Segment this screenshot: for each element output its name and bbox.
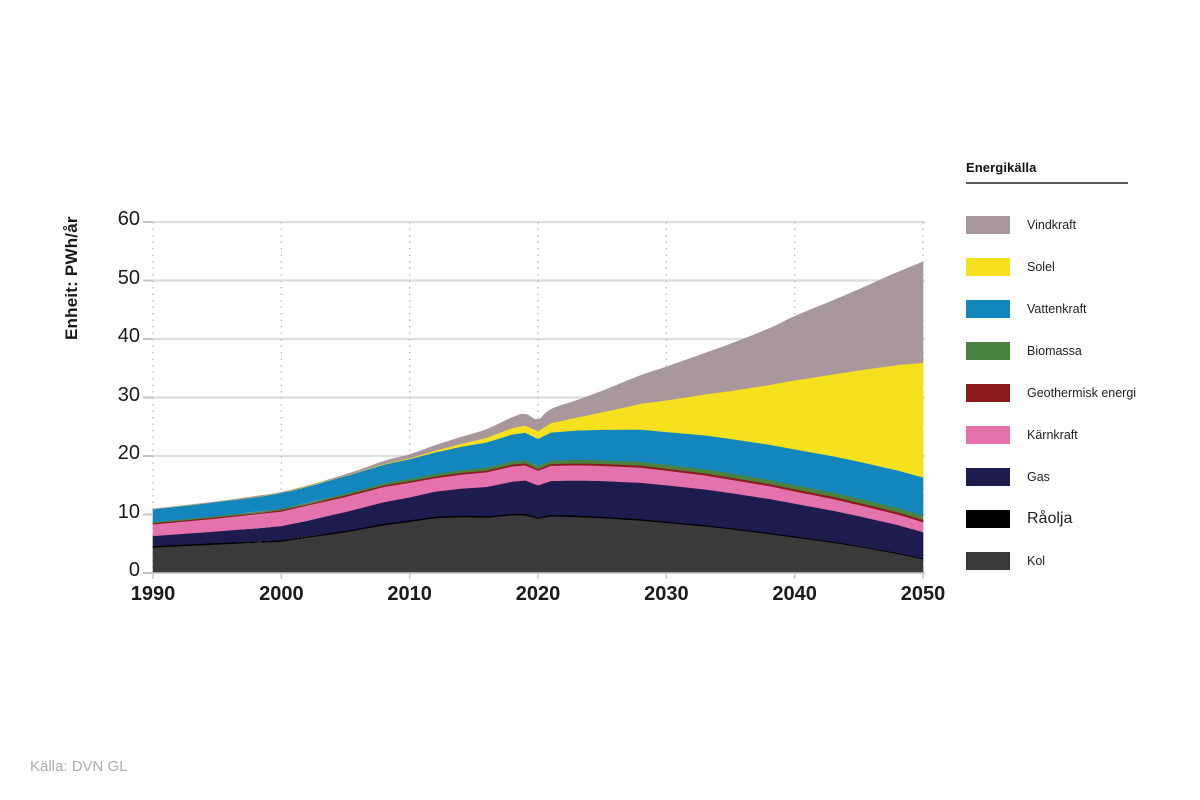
legend-item-r-olja[interactable]: Råolja (962, 498, 1192, 540)
legend-item-label: Kärnkraft (1027, 428, 1078, 442)
legend-item-solel[interactable]: Solel (962, 246, 1192, 288)
legend-item-geothermisk-energi[interactable]: Geothermisk energi (962, 372, 1192, 414)
legend-item-label: Vattenkraft (1027, 302, 1087, 316)
legend-item-k-rnkraft[interactable]: Kärnkraft (962, 414, 1192, 456)
x-tick-label: 2010 (350, 583, 470, 606)
legend-item-label: Biomassa (1027, 344, 1082, 358)
chart-stage: Enheit: PWh/år 0102030405060 19902000201… (0, 0, 1200, 800)
legend-item-vindkraft[interactable]: Vindkraft (962, 204, 1192, 246)
legend-item-biomassa[interactable]: Biomassa (962, 330, 1192, 372)
legend-swatch-icon (966, 300, 1010, 318)
legend-swatch-icon (966, 342, 1010, 360)
x-tick-label: 2020 (478, 583, 598, 606)
x-tick-label: 2040 (735, 583, 855, 606)
legend-item-vattenkraft[interactable]: Vattenkraft (962, 288, 1192, 330)
legend-divider (966, 182, 1128, 184)
legend-item-label: Råolja (1027, 510, 1072, 528)
legend-item-label: Kol (1027, 554, 1045, 568)
legend-swatch-icon (966, 510, 1010, 528)
x-tick-label: 2000 (221, 583, 341, 606)
x-tick-label: 2030 (606, 583, 726, 606)
legend-swatch-icon (966, 468, 1010, 486)
legend-title: Energikälla (966, 160, 1192, 175)
legend-item-label: Vindkraft (1027, 218, 1076, 232)
legend-swatch-icon (966, 216, 1010, 234)
x-tick-label: 2050 (863, 583, 983, 606)
legend-item-gas[interactable]: Gas (962, 456, 1192, 498)
x-tick-label: 1990 (93, 583, 213, 606)
legend-item-kol[interactable]: Kol (962, 540, 1192, 582)
legend-swatch-icon (966, 258, 1010, 276)
legend: Energikälla VindkraftSolelVattenkraftBio… (962, 160, 1192, 582)
legend-items: VindkraftSolelVattenkraftBiomassaGeother… (962, 204, 1192, 582)
legend-item-label: Geothermisk energi (1027, 386, 1136, 400)
source-caption: Källa: DVN GL (30, 758, 128, 775)
legend-swatch-icon (966, 384, 1010, 402)
legend-item-label: Solel (1027, 260, 1055, 274)
legend-swatch-icon (966, 552, 1010, 570)
legend-swatch-icon (966, 426, 1010, 444)
legend-item-label: Gas (1027, 470, 1050, 484)
